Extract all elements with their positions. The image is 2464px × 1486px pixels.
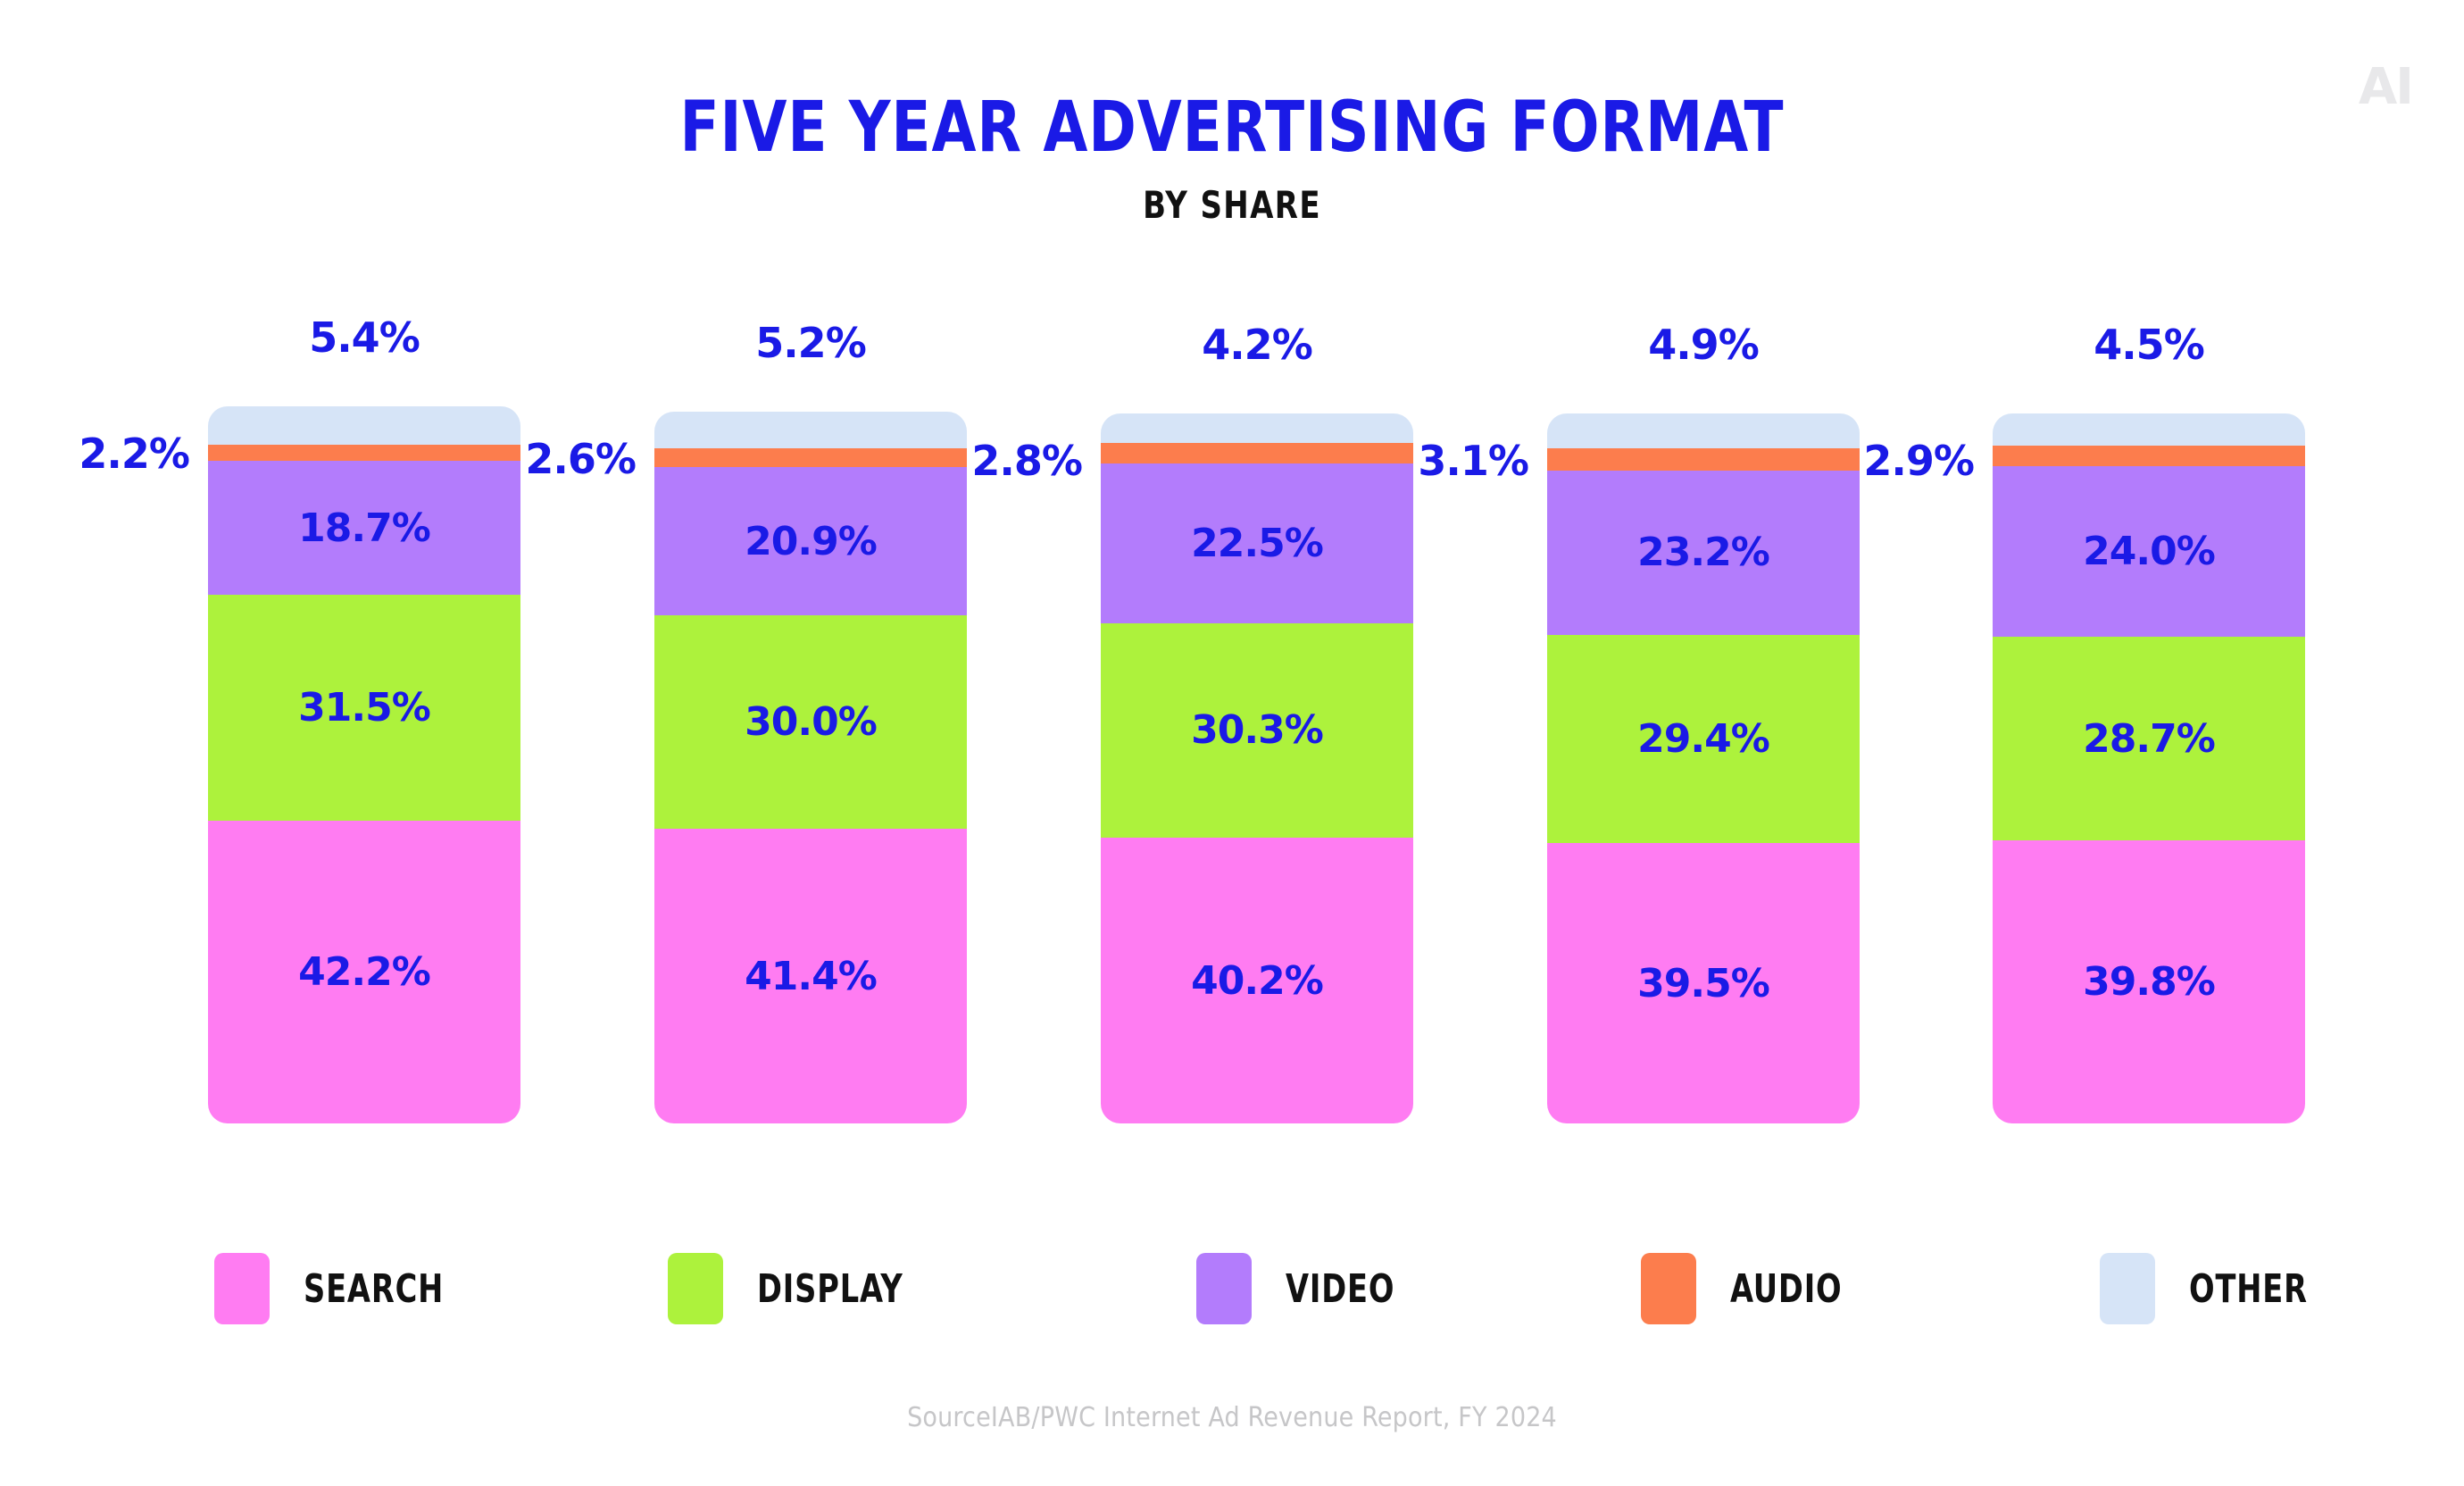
other-value-label: 5.4% bbox=[230, 313, 498, 362]
chart-source-note: SourceIAB/PWC Internet Ad Revenue Report… bbox=[0, 1402, 2464, 1433]
segment-value-label: 30.0% bbox=[745, 699, 877, 745]
legend-label: DISPLAY bbox=[757, 1266, 903, 1312]
audio-value-label: 2.2% bbox=[0, 430, 189, 478]
bar-segment-video[interactable]: 20.9% bbox=[654, 467, 967, 615]
audio-value-label: 3.1% bbox=[1269, 437, 1528, 485]
segment-value-label: 23.2% bbox=[1637, 530, 1769, 575]
segment-value-label: 28.7% bbox=[2083, 716, 2215, 762]
legend-swatch-other bbox=[2100, 1253, 2155, 1324]
legend-label: VIDEO bbox=[1286, 1266, 1394, 1312]
chart-canvas: AI FIVE YEAR ADVERTISING FORMAT BY SHARE… bbox=[0, 0, 2464, 1486]
bar-segment-audio[interactable] bbox=[1993, 446, 2305, 466]
audio-value-label: 2.9% bbox=[1715, 437, 1974, 485]
legend-item-audio[interactable]: AUDIO bbox=[1641, 1240, 1862, 1338]
other-value-label: 4.9% bbox=[1569, 321, 1837, 369]
legend-item-other[interactable]: OTHER bbox=[2100, 1240, 2328, 1338]
bar-segment-video[interactable]: 24.0% bbox=[1993, 466, 2305, 637]
segment-value-label: 18.7% bbox=[298, 505, 430, 551]
bar-segment-display[interactable]: 30.3% bbox=[1101, 623, 1413, 839]
segment-value-label: 29.4% bbox=[1637, 716, 1769, 762]
segment-value-label: 30.3% bbox=[1191, 707, 1323, 753]
stacked-bar[interactable]: 18.7%31.5%42.2% bbox=[208, 406, 520, 1123]
legend-label: SEARCH bbox=[304, 1266, 444, 1312]
legend-swatch-video bbox=[1196, 1253, 1252, 1324]
stacked-bar[interactable]: 22.5%30.3%40.2% bbox=[1101, 413, 1413, 1123]
legend-swatch-search bbox=[214, 1253, 270, 1324]
bar-segment-other[interactable] bbox=[1993, 413, 2305, 446]
segment-value-label: 39.5% bbox=[1637, 961, 1769, 1006]
other-value-label: 5.2% bbox=[677, 319, 945, 367]
bar-segment-display[interactable]: 29.4% bbox=[1547, 635, 1860, 843]
other-value-label: 4.2% bbox=[1123, 321, 1391, 369]
segment-value-label: 42.2% bbox=[298, 949, 430, 995]
segment-value-label: 22.5% bbox=[1191, 521, 1323, 566]
bar-segment-search[interactable]: 40.2% bbox=[1101, 838, 1413, 1123]
legend-swatch-display bbox=[668, 1253, 723, 1324]
bar-segment-video[interactable]: 22.5% bbox=[1101, 463, 1413, 623]
segment-value-label: 39.8% bbox=[2083, 959, 2215, 1005]
bar-segment-search[interactable]: 42.2% bbox=[208, 821, 520, 1123]
legend-item-display[interactable]: DISPLAY bbox=[668, 1240, 928, 1338]
stacked-bar[interactable]: 23.2%29.4%39.5% bbox=[1547, 413, 1860, 1123]
segment-value-label: 24.0% bbox=[2083, 529, 2215, 574]
stacked-bar[interactable]: 20.9%30.0%41.4% bbox=[654, 412, 967, 1123]
legend-item-search[interactable]: SEARCH bbox=[214, 1240, 469, 1338]
segment-value-label: 40.2% bbox=[1191, 958, 1323, 1004]
bar-segment-search[interactable]: 39.8% bbox=[1993, 840, 2305, 1123]
audio-value-label: 2.8% bbox=[823, 437, 1082, 485]
bar-segment-display[interactable]: 31.5% bbox=[208, 595, 520, 821]
legend-label: OTHER bbox=[2189, 1266, 2308, 1312]
chart-legend: SEARCHDISPLAYVIDEOAUDIOOTHER bbox=[0, 1240, 2464, 1338]
bar-segment-display[interactable]: 28.7% bbox=[1993, 637, 2305, 840]
bar-segment-search[interactable]: 39.5% bbox=[1547, 843, 1860, 1123]
legend-swatch-audio bbox=[1641, 1253, 1696, 1324]
audio-value-label: 2.6% bbox=[377, 435, 636, 483]
bar-segment-display[interactable]: 30.0% bbox=[654, 615, 967, 829]
bar-segment-video[interactable]: 23.2% bbox=[1547, 471, 1860, 635]
legend-label: AUDIO bbox=[1730, 1266, 1843, 1312]
bar-segment-search[interactable]: 41.4% bbox=[654, 829, 967, 1123]
segment-value-label: 31.5% bbox=[298, 685, 430, 730]
stacked-bar[interactable]: 24.0%28.7%39.8% bbox=[1993, 413, 2305, 1123]
segment-value-label: 41.4% bbox=[745, 954, 877, 999]
segment-value-label: 20.9% bbox=[745, 519, 877, 564]
legend-item-video[interactable]: VIDEO bbox=[1196, 1240, 1414, 1338]
other-value-label: 4.5% bbox=[2015, 321, 2283, 369]
